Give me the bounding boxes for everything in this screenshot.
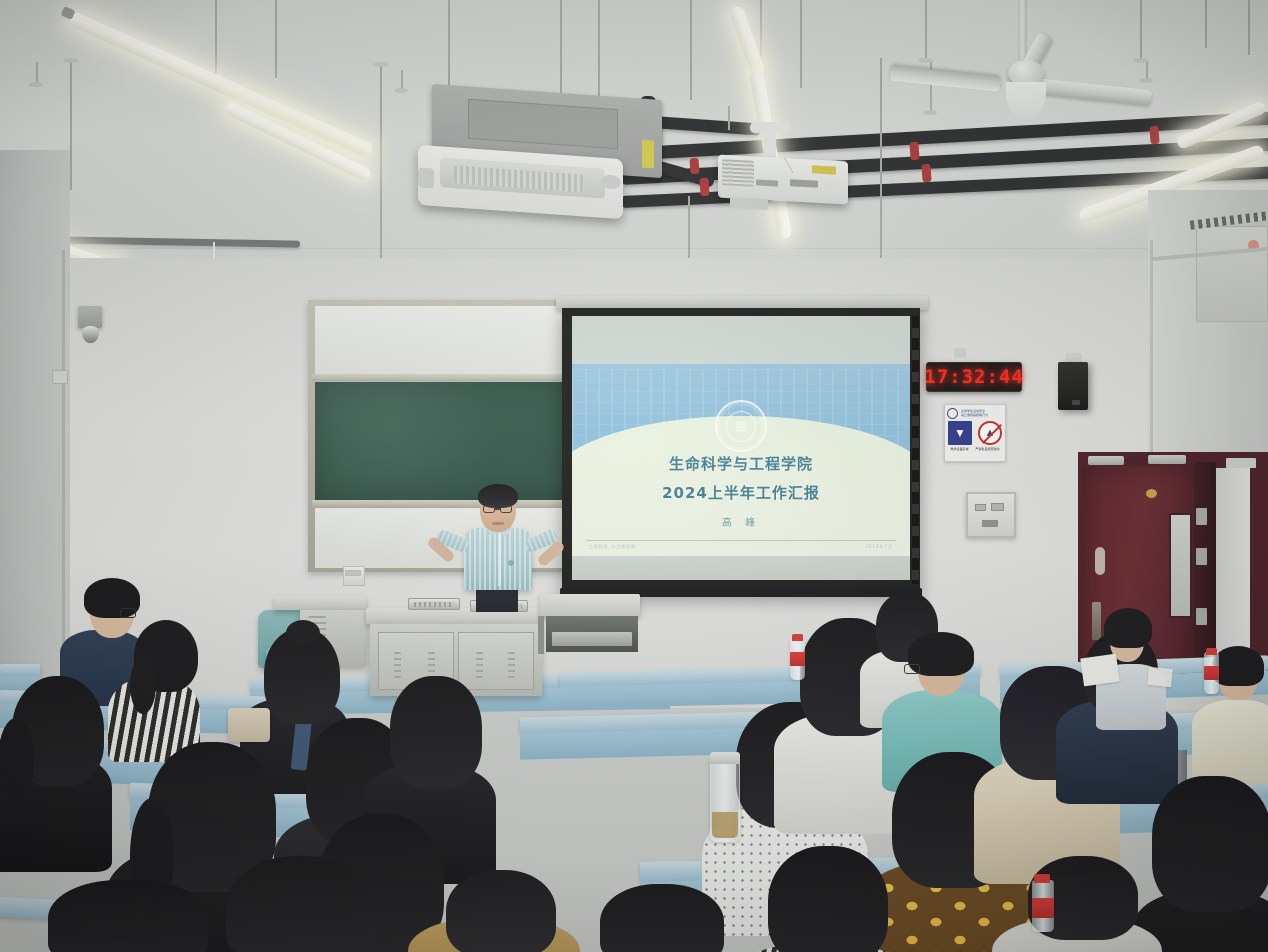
paper-document[interactable] [1147,667,1173,687]
fire-sprinkler-head [29,82,43,87]
lectern-side-shelf [274,596,366,610]
hanger-rod [728,106,730,130]
chalk-box-label [345,570,361,576]
fire-sprinkler-head [1139,78,1153,83]
person-glasses [120,608,136,618]
door-vision-panel [1169,513,1192,618]
bottle-label [1204,666,1219,680]
blackboard-rail-top [312,374,576,381]
presenter-shirt-placket [498,534,501,586]
lectern-door-vent-3 [476,652,483,678]
door-handle[interactable] [1092,602,1101,640]
lectern-cabinet-door-right[interactable] [458,632,534,690]
cctv-camera-housing [78,306,102,328]
hanger-rod [560,0,562,108]
clock-bracket [954,348,966,358]
person-hair [48,880,208,952]
projector-equipment-icon: ▼ [948,421,972,445]
panel-switch-3[interactable] [982,520,998,527]
hanger-rod-cap [63,58,79,63]
ceiling-edge-line-2 [0,248,1268,249]
hanger-rod [598,0,600,104]
person-torso [1192,700,1268,784]
hanger-rod [70,60,72,190]
fire-sprinkler-head [394,88,408,93]
lectern-cavity-edge [538,616,544,654]
person-glasses [322,944,352,952]
led-wall-clock: 17:32:44 [926,362,1022,392]
fire-sprinkler-stem [36,62,38,84]
wall-recess-panel [1196,226,1268,322]
person-hair-bun [286,620,320,646]
seal-inner-glyph: 章 [726,411,757,442]
hanger-rod [1248,0,1250,55]
pipe-marker-red-3 [909,142,919,161]
slide-title-line-2: 2024上半年工作汇报 [572,482,910,503]
wall-junction-box [52,370,68,384]
presenter-glasses-bridge [495,508,500,510]
hanger-rod [275,0,277,78]
speaker-logo [1072,400,1080,405]
presenter-pocket-logo [508,560,514,566]
person-hair-side [130,656,156,714]
person-hair [768,846,888,952]
person-hair [390,676,482,788]
hanger-rod [1140,0,1142,62]
ceiling-fan-downrod [1018,0,1027,60]
projector-lens-housing [730,197,768,210]
hanger-rod [800,0,802,88]
safety-sign: 注意学生活动安全 禁止攀爬踩踏等行为 ▼ ▲ 教学设备区域 严禁私自拆卸改动 [944,404,1006,462]
lecture-hall-photo: 章 生命科学与工程学院 2024上半年工作汇报 高 峰 生命科学 与工程学院 2… [0,0,1268,952]
presenter-glasses-left-lens [483,505,495,513]
projector-ports-2 [756,179,778,186]
no-climbing-icon: ▲ [978,421,1002,445]
hanger-rod [688,196,690,266]
person-hair [1104,608,1152,648]
pipe-marker-red-2 [699,178,709,197]
slide-divider [586,540,897,541]
screen-right-edge-tabs [912,316,919,584]
bottle-cap [792,634,803,641]
presenter-mouth [492,522,504,525]
fire-sprinkler-head [923,110,937,115]
tumbler-lid [710,752,740,764]
slide-top-band [572,316,910,364]
bottle-cap [1034,874,1050,883]
door-closer-box [1226,458,1256,468]
presenter-glasses-right-lens [500,505,512,513]
person-hair [1212,646,1264,686]
bottle-label [790,652,805,666]
slide-presenter-name: 高 峰 [572,514,910,529]
lectern-door-vent-2 [428,652,435,678]
hanger-rod [380,64,382,264]
presenter [440,478,560,610]
desk-row-far-left [0,664,40,676]
projector-label [812,165,836,174]
clock-pictogram-icon [947,408,958,419]
pipe-marker-red-1 [689,158,699,175]
panel-switch-2[interactable] [991,503,1004,511]
pipe-marker-red-5 [1149,126,1159,145]
projector-ports [790,179,818,187]
person-glasses [904,664,920,674]
safety-sign-caption-row: 教学设备区域 严禁私自拆卸改动 [947,447,1003,451]
safety-sign-caption-left: 教学设备区域 [950,447,968,451]
slide-footer-left: 生命科学 与工程学院 [589,544,636,550]
electrical-panel [966,492,1016,538]
safety-sign-icon-row: ▼ ▲ [947,421,1003,445]
person-hair [446,870,556,952]
safety-sign-heading-row: 注意学生活动安全 禁止攀爬踩踏等行为 [947,408,1003,419]
bottle-cap [1206,648,1217,655]
blackboard-upper-white-panel [315,306,573,374]
ac-warning-label [642,140,654,169]
hanger-rod-cap [373,62,389,67]
projector-mount-plate [750,122,790,133]
fire-sprinkler-stem [401,70,403,90]
handbag[interactable] [228,708,270,742]
wall-corner-left [62,250,65,670]
hanger-rod [1205,0,1207,48]
pipe-marker-red-4 [921,164,931,183]
door-hinge [1196,508,1207,525]
safety-sign-heading-line2: 禁止攀爬踩踏等行为 [961,414,988,418]
ac-corner-cap [418,167,434,188]
lectern-door-vent-4 [508,652,515,678]
wall-corner-right [1150,240,1153,470]
slide-title-line-1: 生命科学与工程学院 [572,453,910,474]
safety-sign-caption-right: 严禁私自拆卸改动 [975,447,999,451]
safety-sign-heading: 注意学生活动安全 禁止攀爬踩踏等行为 [961,410,988,418]
paper-document[interactable] [1080,654,1120,687]
hanger-rod [925,0,927,62]
hanger-rod [690,0,692,100]
person-hair [226,856,376,952]
door-hinge [1196,548,1207,565]
door-lock-plate [1095,547,1105,575]
projector-vent [722,159,754,187]
person-hair [1152,776,1268,912]
projection-screen: 章 生命科学与工程学院 2024上半年工作汇报 高 峰 生命科学 与工程学院 2… [572,316,910,580]
tumbler-tea-leaves [712,812,738,838]
chalk-box [343,566,365,586]
slide-footer-right: 2024年7月 [865,544,893,550]
door-closer-arm-2 [1148,455,1186,464]
hanger-rod [880,58,882,258]
bottle-label [1032,898,1054,918]
person-hair [600,884,724,952]
clock-time-display: 17:32:44 [924,366,1024,388]
lectern-equipment-tray [552,632,632,646]
slide-bottom-band [572,556,910,580]
panel-switch-1[interactable] [975,504,986,511]
door-hinge [1196,608,1207,625]
door-peephole-icon [1146,489,1157,498]
camera-cable [68,268,69,310]
lectern-door-vent-1 [394,652,401,678]
door-closer-arm-1 [1088,456,1124,465]
